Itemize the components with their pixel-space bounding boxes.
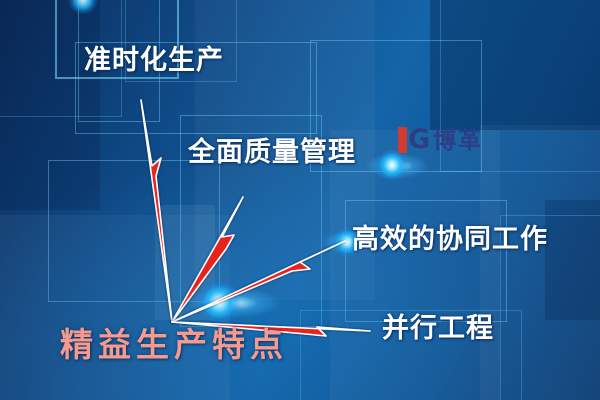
feature-label-jit: 准时化生产	[84, 47, 224, 74]
logo-red-bar	[398, 127, 407, 153]
feature-label-tqm: 全面质量管理	[188, 139, 356, 166]
brand-name: 博革	[433, 129, 483, 152]
brand-logo-icon: G	[398, 127, 428, 153]
feature-label-concurrent: 并行工程	[382, 315, 494, 342]
slide-canvas: 准时化生产 全面质量管理 高效的协同工作 并行工程 精益生产特点 G 博革	[0, 0, 600, 400]
brand-watermark: G 博革	[398, 127, 483, 153]
logo-letter: G	[408, 127, 428, 153]
feature-label-teamwork: 高效的协同工作	[352, 226, 548, 253]
page-title: 精益生产特点	[60, 328, 288, 361]
